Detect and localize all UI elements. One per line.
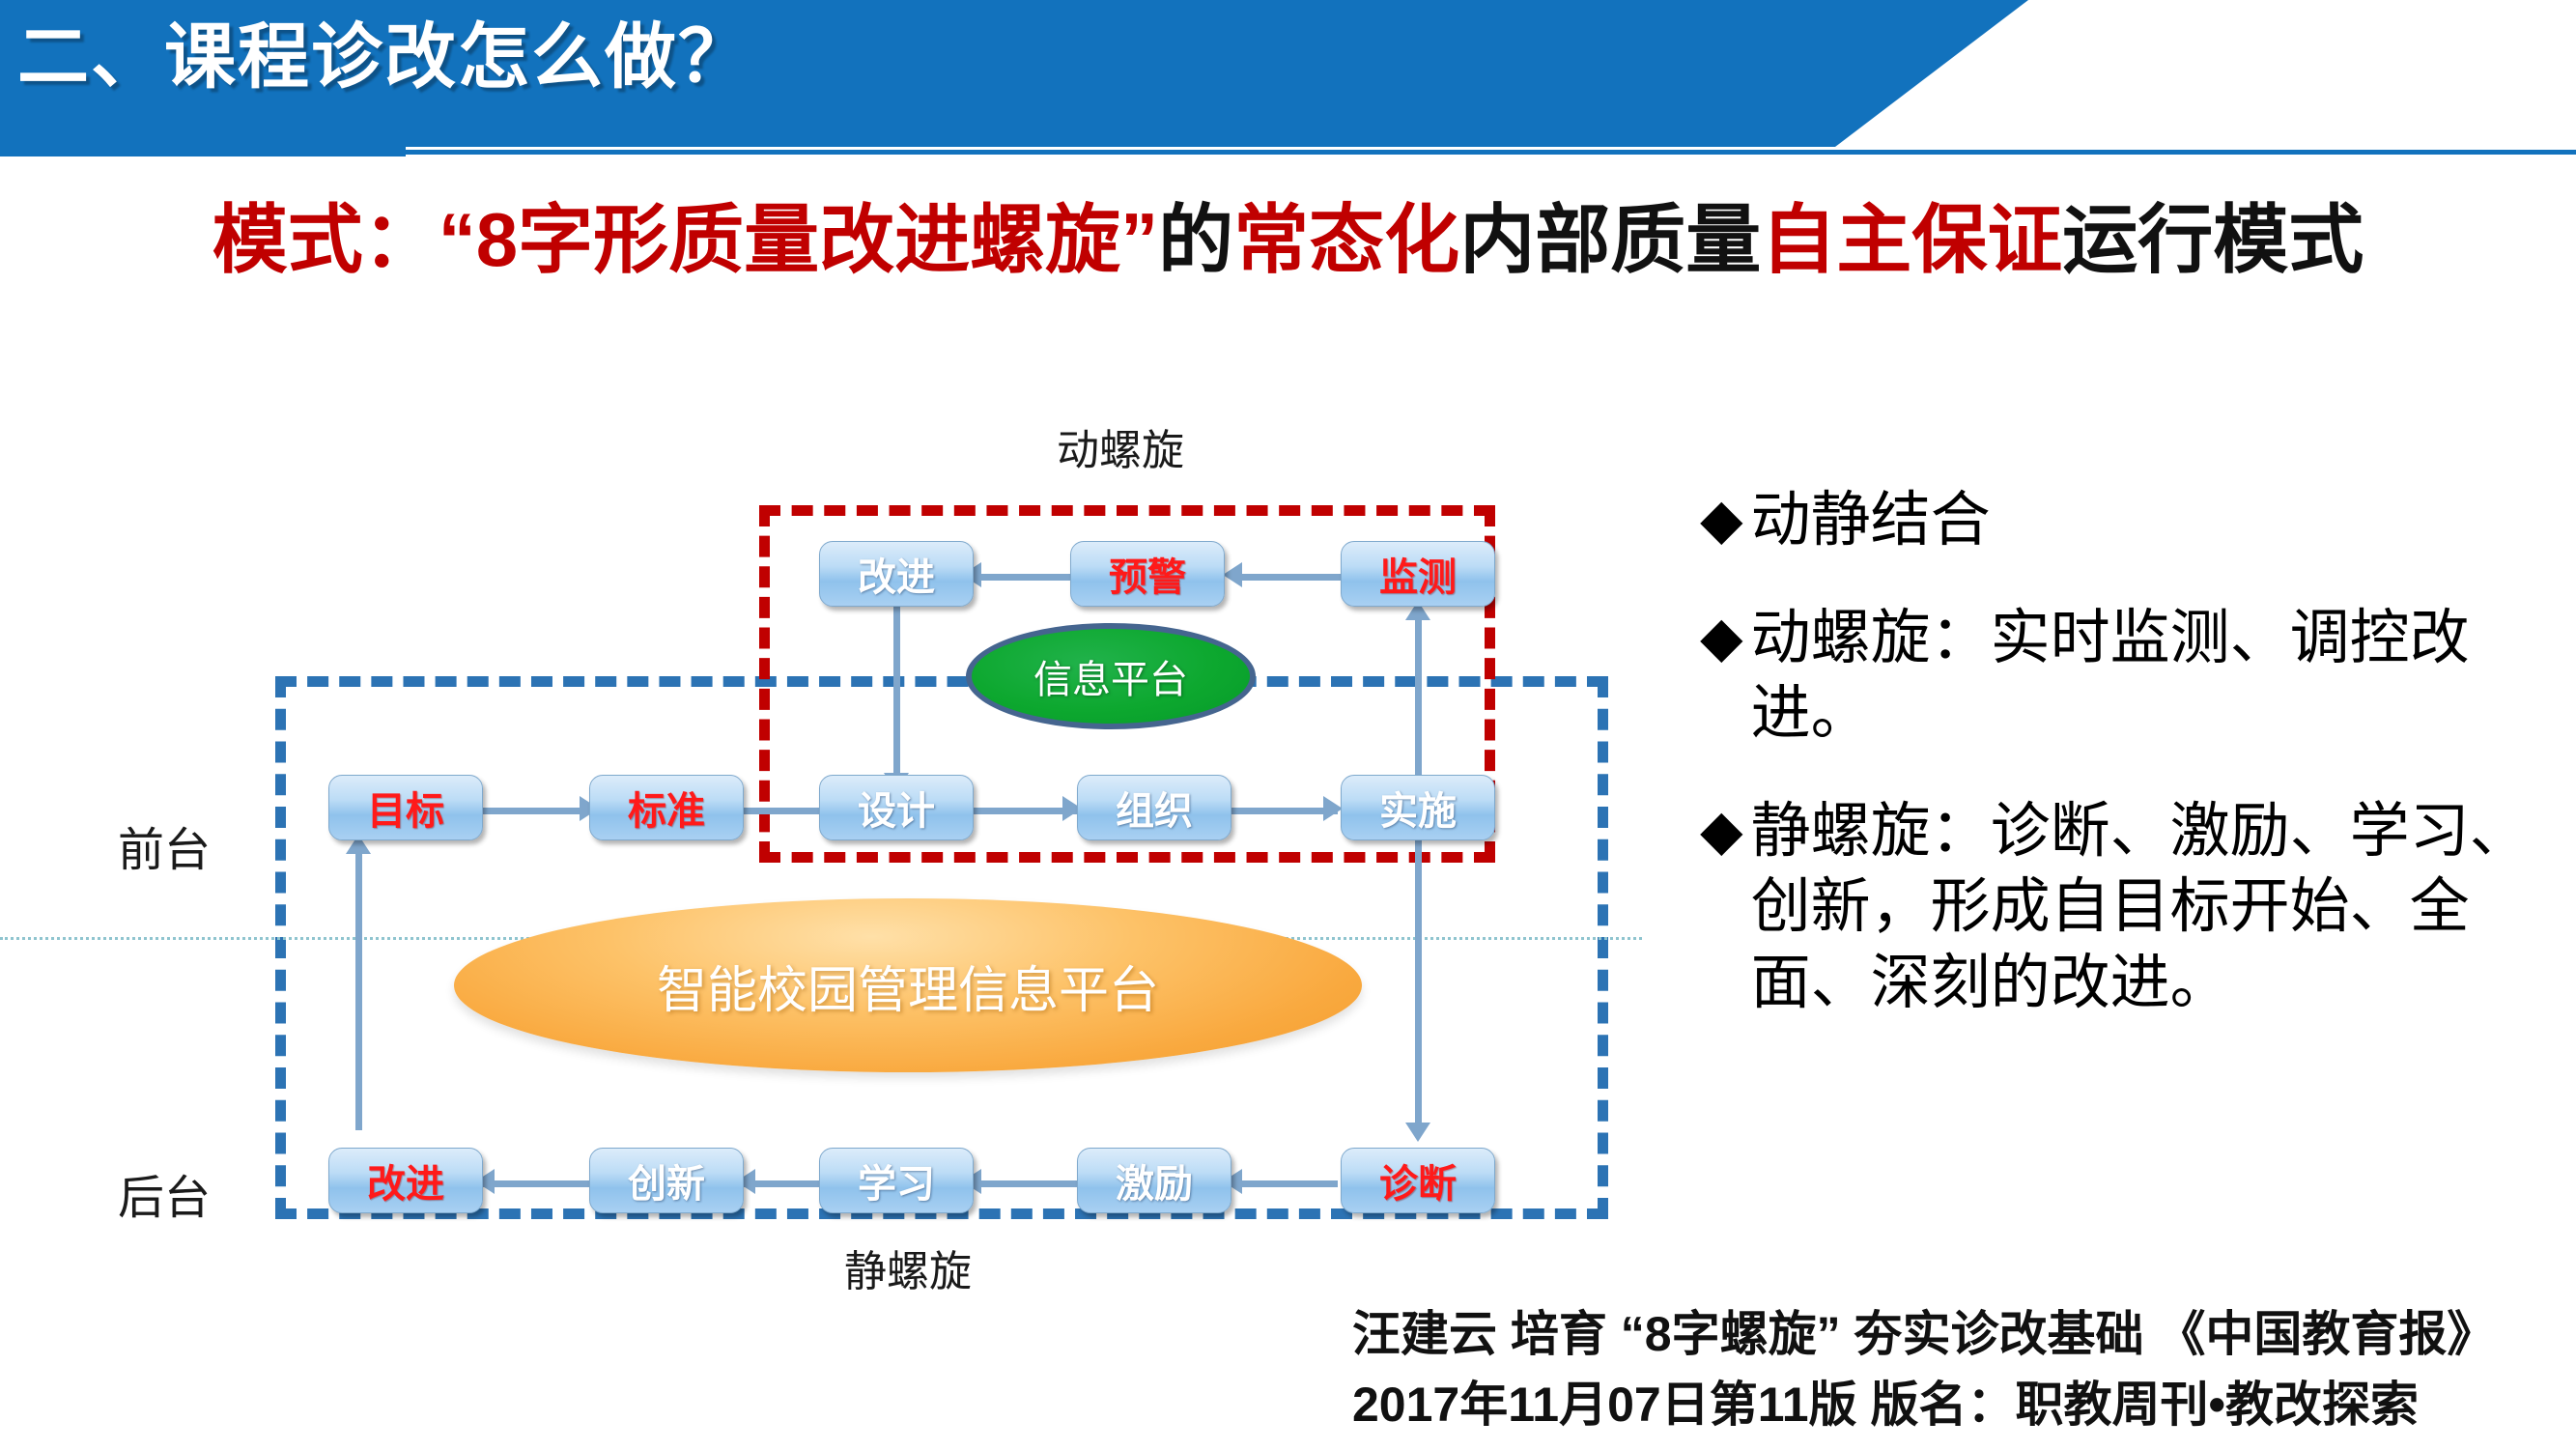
headline-seg-7: 运行模式 bbox=[2062, 197, 2364, 282]
bullet-text: 动螺旋：实时监测、调控改进。 bbox=[1751, 601, 2560, 752]
headline-seg-1: 模式： bbox=[212, 197, 439, 282]
connector-chuangxin-to-gaijin bbox=[483, 1180, 589, 1187]
citation: 汪建云 培育 “8字螺旋” 夯实诊改基础 《中国教育报》 2017年11月07日… bbox=[1352, 1299, 2560, 1439]
list-item: ◆ 动静结合 bbox=[1700, 483, 2560, 558]
node-gaijin-bottom[interactable]: 改进 bbox=[328, 1148, 483, 1213]
connector-gaijin-to-sheji bbox=[893, 607, 900, 779]
node-zhenduan[interactable]: 诊断 bbox=[1341, 1148, 1495, 1213]
connector-jili-to-xuexi bbox=[971, 1180, 1077, 1187]
bullet-text: 静螺旋：诊断、激励、学习、创新，形成自目标开始、全面、深刻的改进。 bbox=[1751, 794, 2560, 1020]
node-gaijin-top[interactable]: 改进 bbox=[819, 541, 974, 607]
arrowhead-to-shishi bbox=[1323, 796, 1343, 821]
spiral-diagram: 动螺旋 静螺旋 前台 后台 bbox=[0, 386, 1700, 1352]
citation-line-2: 2017年11月07日第11版 版名：职教周刊•教改探索 bbox=[1352, 1370, 2560, 1440]
slide-root: 二、课程诊改怎么做？ 模式：“8字形质量改进螺旋”的常态化内部质量自主保证运行模… bbox=[0, 0, 2576, 1450]
node-sheji[interactable]: 设计 bbox=[819, 775, 974, 840]
label-dynamic-spiral: 动螺旋 bbox=[966, 415, 1275, 477]
node-zuzhi[interactable]: 组织 bbox=[1077, 775, 1231, 840]
connector-zhenduan-to-jili bbox=[1231, 1180, 1338, 1187]
node-biaozhun[interactable]: 标准 bbox=[589, 775, 744, 840]
connector-zuzhi-to-shishi bbox=[1231, 808, 1338, 814]
headline-seg-5: 内部质量 bbox=[1459, 197, 1761, 282]
diamond-bullet-icon: ◆ bbox=[1700, 794, 1743, 867]
list-item: ◆ 动螺旋：实时监测、调控改进。 bbox=[1700, 601, 2560, 752]
list-item: ◆ 静螺旋：诊断、激励、学习、创新，形成自目标开始、全面、深刻的改进。 bbox=[1700, 794, 2560, 1020]
header-underline-thick bbox=[0, 145, 406, 156]
connector-shishi-to-zhenduan bbox=[1415, 840, 1422, 1130]
headline-seg-6: 自主保证 bbox=[1761, 197, 2062, 282]
connector-yujing-to-gaijin bbox=[974, 574, 1070, 581]
label-back-stage: 后台 bbox=[48, 1159, 280, 1227]
headline-seg-3: 的 bbox=[1158, 197, 1233, 282]
headline-seg-2: “8字形质量改进螺旋” bbox=[439, 197, 1158, 282]
node-chuangxin[interactable]: 创新 bbox=[589, 1148, 744, 1213]
page-title: 二、课程诊改怎么做？ bbox=[17, 17, 751, 96]
info-platform-ellipse: 信息平台 bbox=[966, 623, 1256, 729]
diamond-bullet-icon: ◆ bbox=[1700, 601, 1743, 673]
node-shishi[interactable]: 实施 bbox=[1341, 775, 1495, 840]
label-static-spiral: 静螺旋 bbox=[753, 1237, 1062, 1298]
connector-sheji-to-zuzhi bbox=[971, 808, 1077, 814]
connector-shishi-to-jiance bbox=[1415, 607, 1422, 779]
citation-line-1: 汪建云 培育 “8字螺旋” 夯实诊改基础 《中国教育报》 bbox=[1352, 1299, 2560, 1370]
campus-platform-ellipse: 智能校园管理信息平台 bbox=[454, 898, 1362, 1072]
diamond-bullet-icon: ◆ bbox=[1700, 483, 1743, 555]
node-jili[interactable]: 激励 bbox=[1077, 1148, 1231, 1213]
arrowhead-to-yujing bbox=[1223, 562, 1242, 587]
header-banner: 二、课程诊改怎么做？ bbox=[0, 0, 2576, 166]
arrowhead-to-zhenduan bbox=[1405, 1123, 1430, 1142]
headline: 模式：“8字形质量改进螺旋”的常态化内部质量自主保证运行模式 bbox=[0, 193, 2576, 288]
node-mubiao[interactable]: 目标 bbox=[328, 775, 483, 840]
node-xuexi[interactable]: 学习 bbox=[819, 1148, 974, 1213]
headline-seg-4: 常态化 bbox=[1233, 197, 1459, 282]
connector-gaijin-to-mubiao bbox=[355, 840, 362, 1130]
label-front-stage: 前台 bbox=[48, 811, 280, 879]
connector-jiance-to-yujing bbox=[1234, 574, 1341, 581]
node-yujing[interactable]: 预警 bbox=[1070, 541, 1225, 607]
bullet-text: 动静结合 bbox=[1751, 483, 2560, 558]
node-jiance[interactable]: 监测 bbox=[1341, 541, 1495, 607]
bullet-list: ◆ 动静结合 ◆ 动螺旋：实时监测、调控改进。 ◆ 静螺旋：诊断、激励、学习、创… bbox=[1700, 483, 2560, 1064]
connector-mubiao-to-biaozhun bbox=[483, 808, 589, 814]
